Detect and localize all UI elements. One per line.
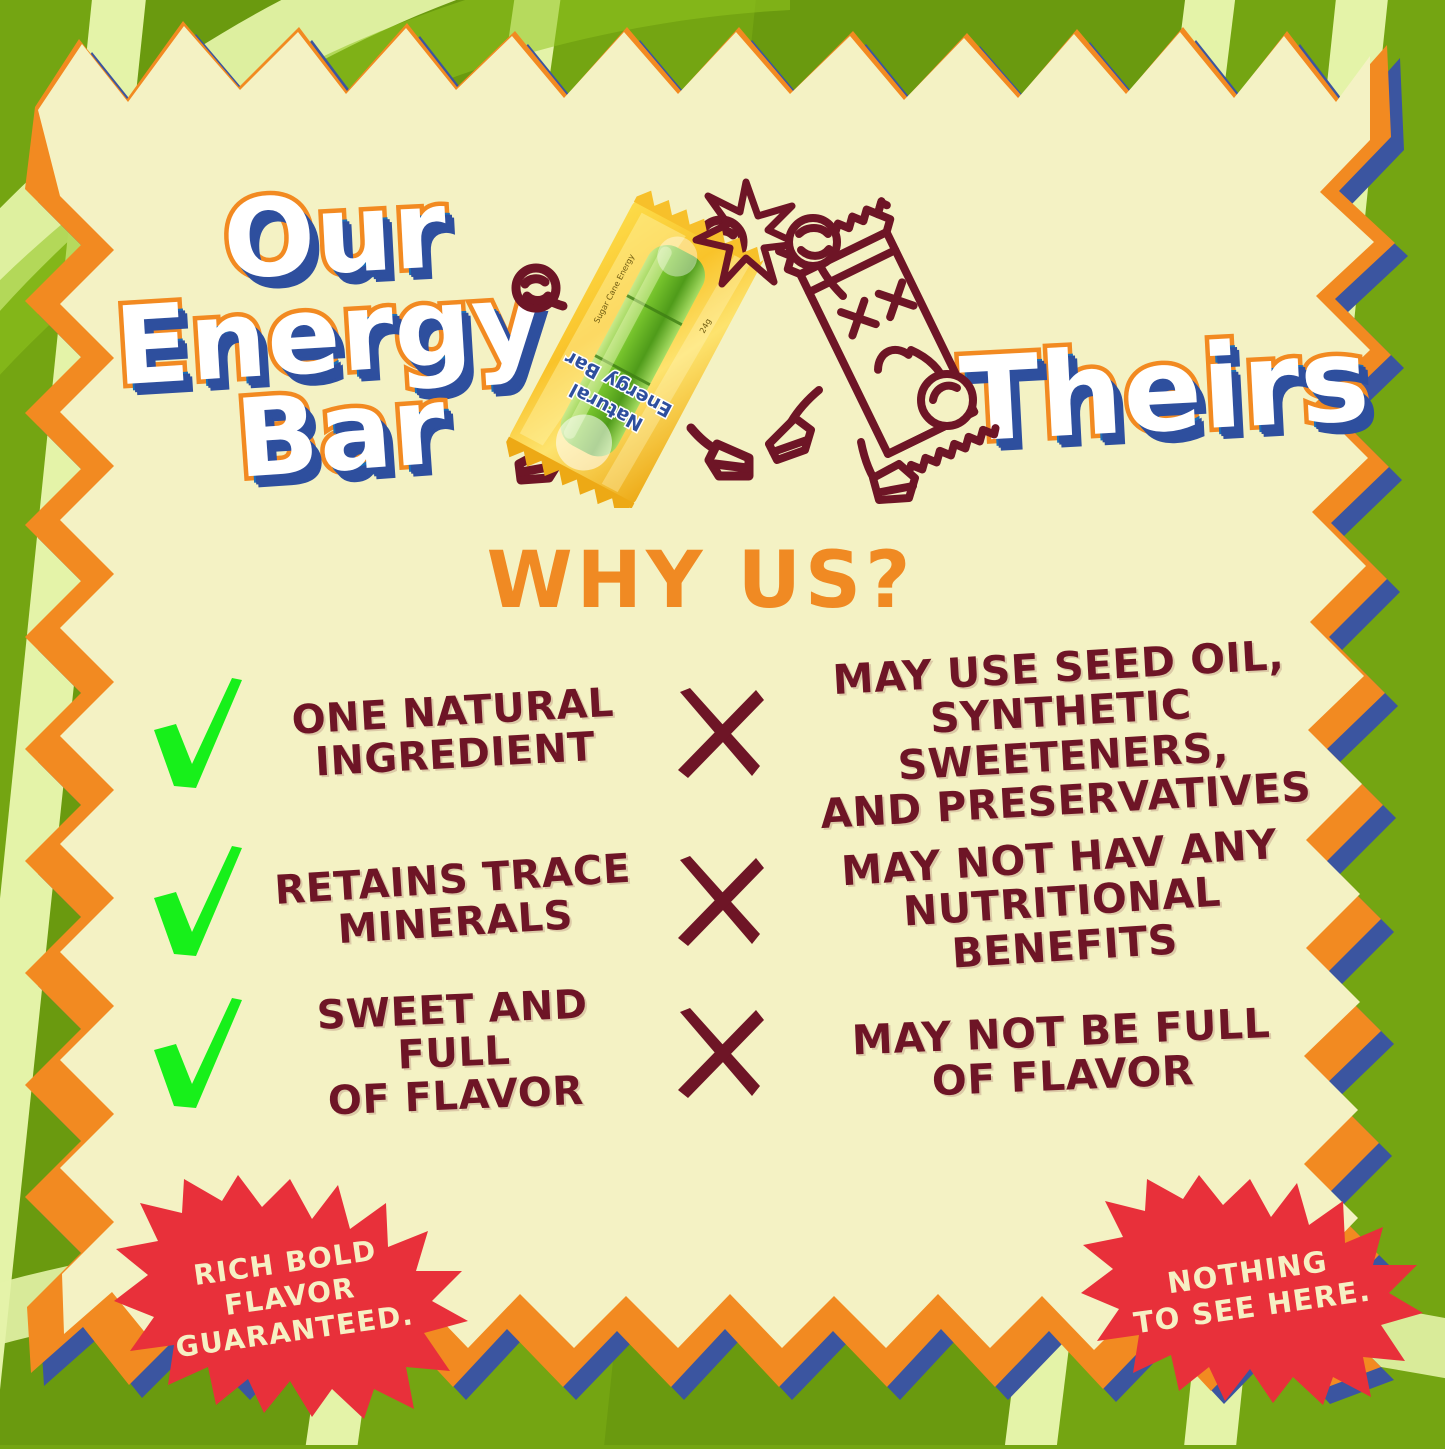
our-energy-bar-title: Our Energy Bar	[120, 188, 550, 481]
comparison-section: ONE NATURALINGREDIENT MAY USE SEED OIL,S…	[0, 650, 1445, 1150]
starburst-shape	[110, 1175, 470, 1420]
check-icon	[150, 678, 246, 790]
why-us-heading: WHY US?	[0, 536, 1423, 626]
x-icon	[672, 1008, 764, 1100]
ours-text: ONE NATURALINGREDIENT	[256, 680, 652, 788]
starburst-shape	[1075, 1175, 1425, 1405]
check-icon	[150, 998, 246, 1110]
competitor-bar-mascot	[765, 178, 1015, 508]
ours-cell: RETAINS TRACEMINERALS	[150, 828, 650, 976]
ours-cell: SWEET AND FULLOF FLAVOR	[150, 980, 650, 1128]
theirs-cell: MAY USE SEED OIL,SYNTHETIC SWEETENERS,AN…	[672, 660, 1332, 808]
x-icon	[672, 856, 764, 948]
nothing-to-see-here-badge: NOTHING TO SEE HERE.	[1075, 1175, 1425, 1405]
theirs-text: MAY NOT HAV ANYNUTRITIONAL BENEFITS	[788, 819, 1335, 985]
theirs-text: MAY USE SEED OIL,SYNTHETIC SWEETENERS,AN…	[787, 631, 1336, 838]
comparison-row: ONE NATURALINGREDIENT MAY USE SEED OIL,S…	[0, 660, 1445, 808]
theirs-cell: MAY NOT BE FULLOF FLAVOR	[672, 980, 1332, 1128]
comparison-row: SWEET AND FULLOF FLAVOR MAY NOT BE FULLO…	[0, 980, 1445, 1128]
ours-cell: ONE NATURALINGREDIENT	[150, 660, 650, 808]
rich-bold-flavor-badge: RICH BOLD FLAVOR GUARANTEED.	[110, 1175, 470, 1420]
theirs-cell: MAY NOT HAV ANYNUTRITIONAL BENEFITS	[672, 828, 1332, 976]
x-icon	[672, 688, 764, 780]
check-icon	[150, 846, 246, 958]
comparison-row: RETAINS TRACEMINERALS MAY NOT HAV ANYNUT…	[0, 828, 1445, 976]
ours-text: SWEET AND FULLOF FLAVOR	[255, 981, 652, 1127]
ours-text: RETAINS TRACEMINERALS	[256, 847, 653, 958]
theirs-text: MAY NOT BE FULLOF FLAVOR	[790, 998, 1333, 1109]
